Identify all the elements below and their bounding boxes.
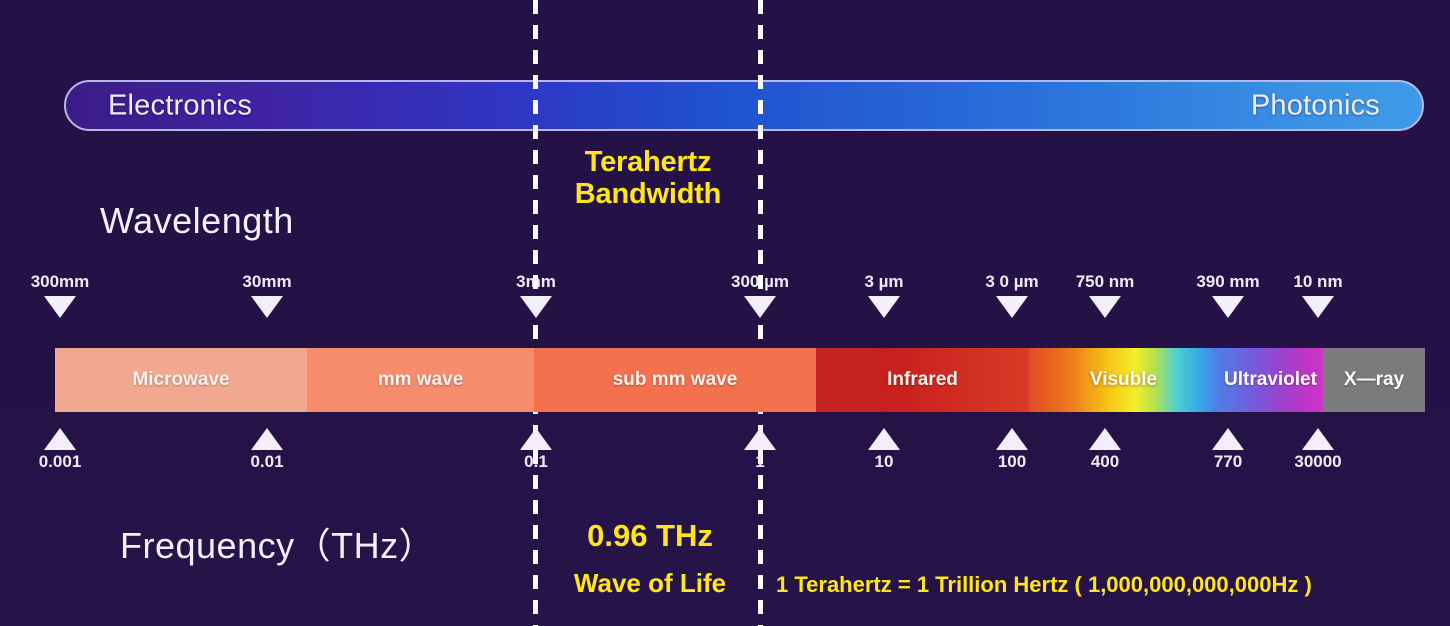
frequency-tick-label-8: 30000: [1294, 452, 1341, 472]
down-triangle-icon: [868, 296, 900, 318]
wavelength-tick-label-1: 30mm: [242, 272, 291, 292]
down-triangle-icon: [251, 296, 283, 318]
frequency-tick-label-0: 0.001: [39, 452, 82, 472]
thz-value-label: 0.96 THz: [560, 518, 740, 554]
band-microwave: Microwave: [55, 348, 307, 412]
frequency-tick-label-5: 100: [998, 452, 1026, 472]
frequency-tick-label-3: 1: [755, 452, 764, 472]
frequency-axis-title: Frequency（THz）: [120, 517, 435, 569]
down-triangle-icon: [44, 296, 76, 318]
spectrum-infographic: Electronics Photonics Terahertz Bandwidt…: [0, 0, 1450, 626]
terahertz-callout-line1: Terahertz: [536, 146, 760, 178]
down-triangle-icon: [1302, 296, 1334, 318]
frequency-tick-label-2: 0.1: [524, 452, 548, 472]
spectrum-bar: Microwave mm wave sub mm wave Infrared V…: [55, 348, 1425, 412]
down-triangle-icon: [1212, 296, 1244, 318]
wave-of-life-label: Wave of Life: [548, 568, 752, 599]
frequency-tick-label-6: 400: [1091, 452, 1119, 472]
band-mm-wave: mm wave: [307, 348, 534, 412]
wavelength-tick-label-2: 3mm: [516, 272, 556, 292]
electronics-photonics-bar: Electronics Photonics: [64, 80, 1424, 131]
up-triangle-icon: [44, 428, 76, 450]
up-triangle-icon: [744, 428, 776, 450]
down-triangle-icon: [1089, 296, 1121, 318]
photonics-label: Photonics: [1251, 89, 1380, 122]
band-mm-wave-label: mm wave: [307, 369, 534, 391]
up-triangle-icon: [1089, 428, 1121, 450]
band-xray: X—ray: [1323, 348, 1425, 412]
band-ultraviolet-label: Ultraviolet: [1218, 369, 1323, 391]
wavelength-tick-label-8: 10 nm: [1293, 272, 1342, 292]
wavelength-tick-label-7: 390 mm: [1196, 272, 1259, 292]
wavelength-tick-label-4: 3 µm: [864, 272, 903, 292]
frequency-tick-label-1: 0.01: [250, 452, 283, 472]
band-ultraviolet: Ultraviolet: [1218, 348, 1323, 412]
terahertz-definition-note: 1 Terahertz = 1 Trillion Hertz ( 1,000,0…: [776, 572, 1312, 598]
band-visible-label: Visuble: [1029, 369, 1218, 391]
frequency-tick-label-7: 770: [1214, 452, 1242, 472]
band-sub-mm-wave: sub mm wave: [534, 348, 816, 412]
band-sub-mm-wave-label: sub mm wave: [534, 369, 816, 391]
terahertz-bandwidth-callout: Terahertz Bandwidth: [536, 146, 760, 211]
band-infrared-label: Infrared: [816, 369, 1029, 391]
up-triangle-icon: [1212, 428, 1244, 450]
up-triangle-icon: [1302, 428, 1334, 450]
down-triangle-icon: [520, 296, 552, 318]
electronics-label: Electronics: [108, 89, 252, 122]
down-triangle-icon: [744, 296, 776, 318]
up-triangle-icon: [868, 428, 900, 450]
terahertz-callout-line2: Bandwidth: [536, 178, 760, 210]
up-triangle-icon: [520, 428, 552, 450]
down-triangle-icon: [996, 296, 1028, 318]
wavelength-tick-label-5: 3 0 µm: [985, 272, 1038, 292]
wavelength-axis-title: Wavelength: [100, 200, 294, 242]
wavelength-tick-label-0: 300mm: [31, 272, 90, 292]
band-infrared: Infrared: [816, 348, 1029, 412]
wavelength-tick-label-6: 750 nm: [1076, 272, 1135, 292]
band-microwave-label: Microwave: [55, 369, 307, 391]
wavelength-tick-label-3: 300 µm: [731, 272, 789, 292]
frequency-tick-label-4: 10: [875, 452, 894, 472]
up-triangle-icon: [996, 428, 1028, 450]
up-triangle-icon: [251, 428, 283, 450]
band-xray-label: X—ray: [1323, 369, 1425, 391]
band-visible: Visuble: [1029, 348, 1218, 412]
